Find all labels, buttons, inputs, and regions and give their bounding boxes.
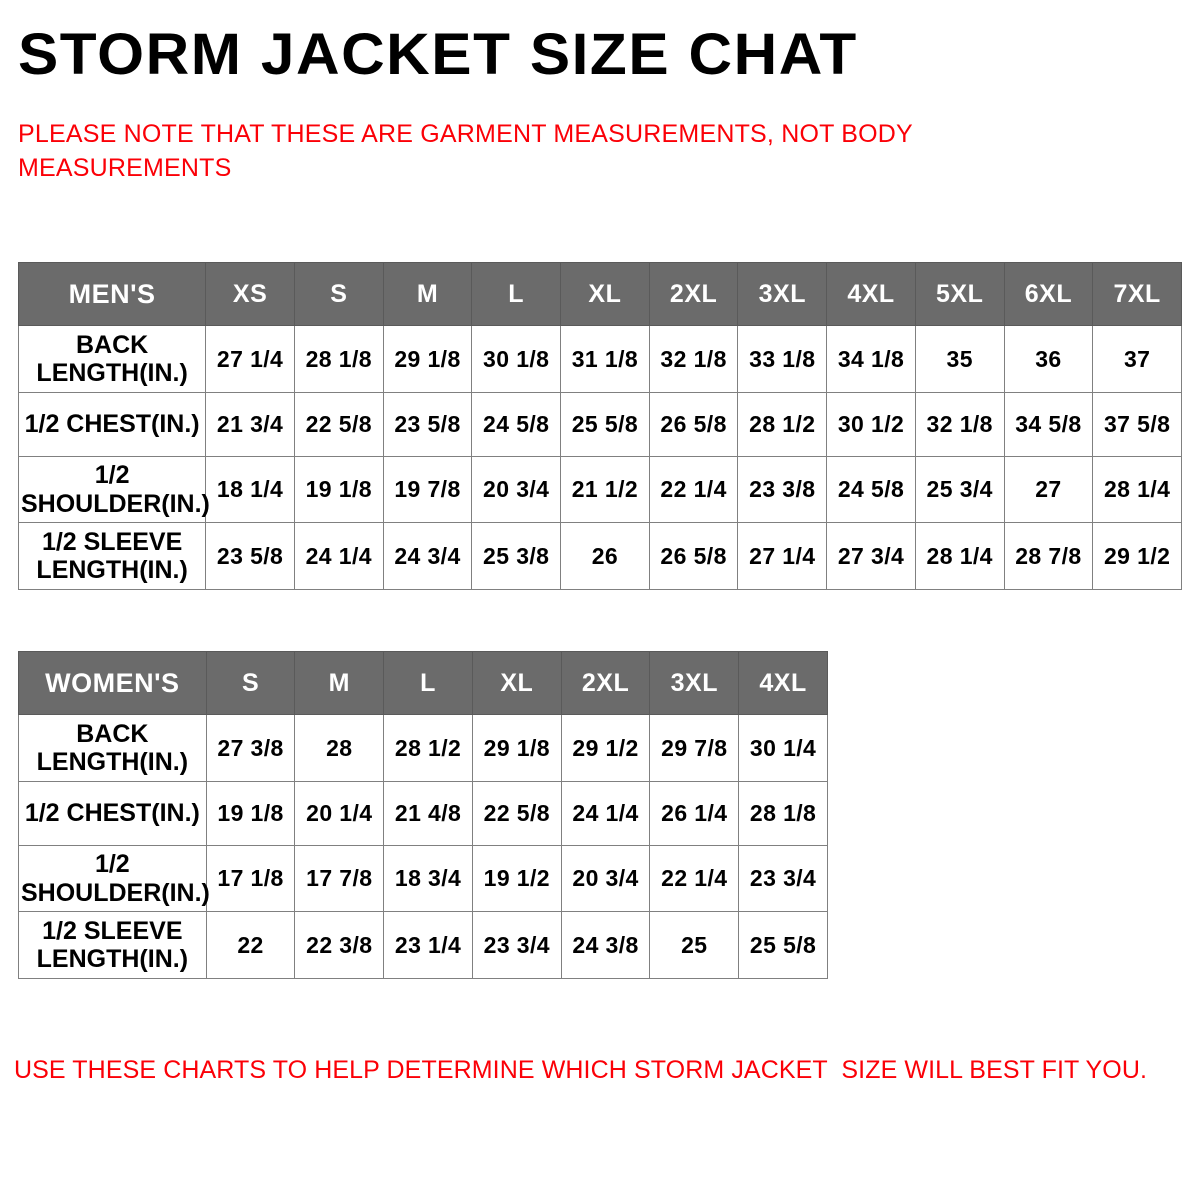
- measurement-cell: 23 5/8: [383, 393, 472, 457]
- measurement-cell: 34 5/8: [1004, 393, 1093, 457]
- womens-row-label: 1/2 CHEST(IN.): [19, 782, 207, 846]
- measurement-cell: 28 1/2: [738, 393, 827, 457]
- table-row: BACKLENGTH(IN.)27 1/428 1/829 1/830 1/83…: [19, 326, 1182, 393]
- row-label-line: LENGTH(IN.): [37, 945, 188, 973]
- womens-size-header-s: S: [206, 652, 295, 715]
- row-label-line: 1/2 SLEEVE: [42, 917, 182, 945]
- measurement-cell: 20 3/4: [561, 846, 650, 912]
- measurement-cell: 30 1/2: [827, 393, 916, 457]
- womens-table-body: BACKLENGTH(IN.)27 3/82828 1/229 1/829 1/…: [19, 715, 828, 979]
- measurement-cell: 18 1/4: [206, 457, 295, 523]
- row-label-line: LENGTH(IN.): [36, 359, 187, 387]
- measurement-cell: 20 3/4: [472, 457, 561, 523]
- measurement-cell: 22 5/8: [294, 393, 383, 457]
- measurement-cell: 23 3/4: [472, 912, 561, 979]
- measurement-cell: 19 1/8: [206, 782, 295, 846]
- measurement-cell: 27 3/4: [827, 523, 916, 590]
- measurement-cell: 31 1/8: [561, 326, 650, 393]
- measurement-cell: 26 1/4: [650, 782, 739, 846]
- measurement-cell: 19 1/2: [472, 846, 561, 912]
- measurement-cell: 22 5/8: [472, 782, 561, 846]
- garment-measurement-note: PLEASE NOTE THAT THESE ARE GARMENT MEASU…: [18, 118, 1008, 185]
- mens-size-header-7xl: 7XL: [1093, 263, 1182, 326]
- table-row: 1/2 SLEEVELENGTH(IN.)2222 3/823 1/423 3/…: [19, 912, 828, 979]
- measurement-cell: 36: [1004, 326, 1093, 393]
- row-label-line: 1/2 CHEST(IN.): [25, 410, 200, 438]
- measurement-cell: 27 1/4: [206, 326, 295, 393]
- mens-size-header-xl: XL: [561, 263, 650, 326]
- womens-size-header-m: M: [295, 652, 384, 715]
- measurement-cell: 32 1/8: [915, 393, 1004, 457]
- womens-size-header-xl: XL: [472, 652, 561, 715]
- measurement-cell: 25 3/8: [472, 523, 561, 590]
- row-label-line: LENGTH(IN.): [37, 748, 188, 776]
- measurement-cell: 23 1/4: [384, 912, 473, 979]
- size-chart-page: STORM JACKET SIZE CHAT PLEASE NOTE THAT …: [0, 0, 1200, 1200]
- womens-row-label: BACKLENGTH(IN.): [19, 715, 207, 782]
- mens-table-body: BACKLENGTH(IN.)27 1/428 1/829 1/830 1/83…: [19, 326, 1182, 590]
- measurement-cell: 24 1/4: [561, 782, 650, 846]
- page-title: STORM JACKET SIZE CHAT: [18, 26, 858, 84]
- womens-corner-label: WOMEN'S: [19, 652, 207, 715]
- table-row: 1/2 SLEEVELENGTH(IN.)23 5/824 1/424 3/42…: [19, 523, 1182, 590]
- measurement-cell: 32 1/8: [649, 326, 738, 393]
- measurement-cell: 21 4/8: [384, 782, 473, 846]
- measurement-cell: 29 1/8: [472, 715, 561, 782]
- mens-size-header-2xl: 2XL: [649, 263, 738, 326]
- womens-size-table: WOMEN'S SMLXL2XL3XL4XL BACKLENGTH(IN.)27…: [18, 651, 828, 979]
- table-row: 1/2 CHEST(IN.)19 1/820 1/421 4/822 5/824…: [19, 782, 828, 846]
- measurement-cell: 21 1/2: [561, 457, 650, 523]
- measurement-cell: 24 3/4: [383, 523, 472, 590]
- womens-row-label: 1/2 SLEEVELENGTH(IN.): [19, 912, 207, 979]
- measurement-cell: 28 1/8: [294, 326, 383, 393]
- measurement-cell: 34 1/8: [827, 326, 916, 393]
- measurement-cell: 28 1/4: [1093, 457, 1182, 523]
- row-label-line: 1/2 SLEEVE: [42, 528, 182, 556]
- measurement-cell: 26 5/8: [649, 393, 738, 457]
- table-row: BACKLENGTH(IN.)27 3/82828 1/229 1/829 1/…: [19, 715, 828, 782]
- mens-size-header-s: S: [294, 263, 383, 326]
- measurement-cell: 17 1/8: [206, 846, 295, 912]
- row-label-line: BACK: [76, 720, 148, 748]
- measurement-cell: 29 1/2: [561, 715, 650, 782]
- measurement-cell: 30 1/4: [739, 715, 828, 782]
- measurement-cell: 22: [206, 912, 295, 979]
- mens-size-header-6xl: 6XL: [1004, 263, 1093, 326]
- measurement-cell: 22 1/4: [649, 457, 738, 523]
- mens-corner-label: MEN'S: [19, 263, 206, 326]
- measurement-cell: 35: [915, 326, 1004, 393]
- measurement-cell: 28 1/8: [739, 782, 828, 846]
- womens-table-header: WOMEN'S SMLXL2XL3XL4XL: [19, 652, 828, 715]
- measurement-cell: 22 3/8: [295, 912, 384, 979]
- mens-size-header-m: M: [383, 263, 472, 326]
- measurement-cell: 28 7/8: [1004, 523, 1093, 590]
- measurement-cell: 37: [1093, 326, 1182, 393]
- measurement-cell: 27 1/4: [738, 523, 827, 590]
- womens-size-header-3xl: 3XL: [650, 652, 739, 715]
- mens-size-header-4xl: 4XL: [827, 263, 916, 326]
- measurement-cell: 21 3/4: [206, 393, 295, 457]
- measurement-cell: 25 5/8: [739, 912, 828, 979]
- row-label-line: 1/2 CHEST(IN.): [25, 799, 200, 827]
- mens-size-header-5xl: 5XL: [915, 263, 1004, 326]
- measurement-cell: 37 5/8: [1093, 393, 1182, 457]
- measurement-cell: 33 1/8: [738, 326, 827, 393]
- womens-header-row: WOMEN'S SMLXL2XL3XL4XL: [19, 652, 828, 715]
- mens-row-label: 1/2 CHEST(IN.): [19, 393, 206, 457]
- table-row: 1/2 SHOULDER(IN.)17 1/817 7/818 3/419 1/…: [19, 846, 828, 912]
- measurement-cell: 25 5/8: [561, 393, 650, 457]
- table-row: 1/2 SHOULDER(IN.)18 1/419 1/819 7/820 3/…: [19, 457, 1182, 523]
- row-label-line: 1/2 SHOULDER(IN.): [21, 461, 210, 518]
- mens-size-table: MEN'S XSSMLXL2XL3XL4XL5XL6XL7XL BACKLENG…: [18, 262, 1182, 590]
- measurement-cell: 25: [650, 912, 739, 979]
- measurement-cell: 28 1/4: [915, 523, 1004, 590]
- table-row: 1/2 CHEST(IN.)21 3/422 5/823 5/824 5/825…: [19, 393, 1182, 457]
- mens-row-label: BACKLENGTH(IN.): [19, 326, 206, 393]
- measurement-cell: 29 7/8: [650, 715, 739, 782]
- row-label-line: BACK: [76, 331, 148, 359]
- measurement-cell: 23 3/8: [738, 457, 827, 523]
- womens-size-header-2xl: 2XL: [561, 652, 650, 715]
- measurement-cell: 27 3/8: [206, 715, 295, 782]
- womens-size-header-4xl: 4XL: [739, 652, 828, 715]
- row-label-line: LENGTH(IN.): [36, 556, 187, 584]
- measurement-cell: 25 3/4: [915, 457, 1004, 523]
- measurement-cell: 28 1/2: [384, 715, 473, 782]
- measurement-cell: 26: [561, 523, 650, 590]
- row-label-line: 1/2 SHOULDER(IN.): [21, 850, 210, 907]
- measurement-cell: 18 3/4: [384, 846, 473, 912]
- womens-row-label: 1/2 SHOULDER(IN.): [19, 846, 207, 912]
- womens-size-header-l: L: [384, 652, 473, 715]
- measurement-cell: 27: [1004, 457, 1093, 523]
- measurement-cell: 23 5/8: [206, 523, 295, 590]
- measurement-cell: 19 7/8: [383, 457, 472, 523]
- measurement-cell: 29 1/8: [383, 326, 472, 393]
- measurement-cell: 24 5/8: [472, 393, 561, 457]
- measurement-cell: 28: [295, 715, 384, 782]
- mens-size-header-xs: XS: [206, 263, 295, 326]
- measurement-cell: 24 5/8: [827, 457, 916, 523]
- measurement-cell: 19 1/8: [294, 457, 383, 523]
- measurement-cell: 23 3/4: [739, 846, 828, 912]
- measurement-cell: 24 1/4: [294, 523, 383, 590]
- mens-table-header: MEN'S XSSMLXL2XL3XL4XL5XL6XL7XL: [19, 263, 1182, 326]
- mens-size-header-l: L: [472, 263, 561, 326]
- mens-row-label: 1/2 SLEEVELENGTH(IN.): [19, 523, 206, 590]
- measurement-cell: 24 3/8: [561, 912, 650, 979]
- measurement-cell: 22 1/4: [650, 846, 739, 912]
- measurement-cell: 20 1/4: [295, 782, 384, 846]
- measurement-cell: 30 1/8: [472, 326, 561, 393]
- mens-row-label: 1/2 SHOULDER(IN.): [19, 457, 206, 523]
- mens-size-header-3xl: 3XL: [738, 263, 827, 326]
- footer-help-note: USE THESE CHARTS TO HELP DETERMINE WHICH…: [14, 1056, 1174, 1085]
- measurement-cell: 26 5/8: [649, 523, 738, 590]
- mens-header-row: MEN'S XSSMLXL2XL3XL4XL5XL6XL7XL: [19, 263, 1182, 326]
- measurement-cell: 29 1/2: [1093, 523, 1182, 590]
- measurement-cell: 17 7/8: [295, 846, 384, 912]
